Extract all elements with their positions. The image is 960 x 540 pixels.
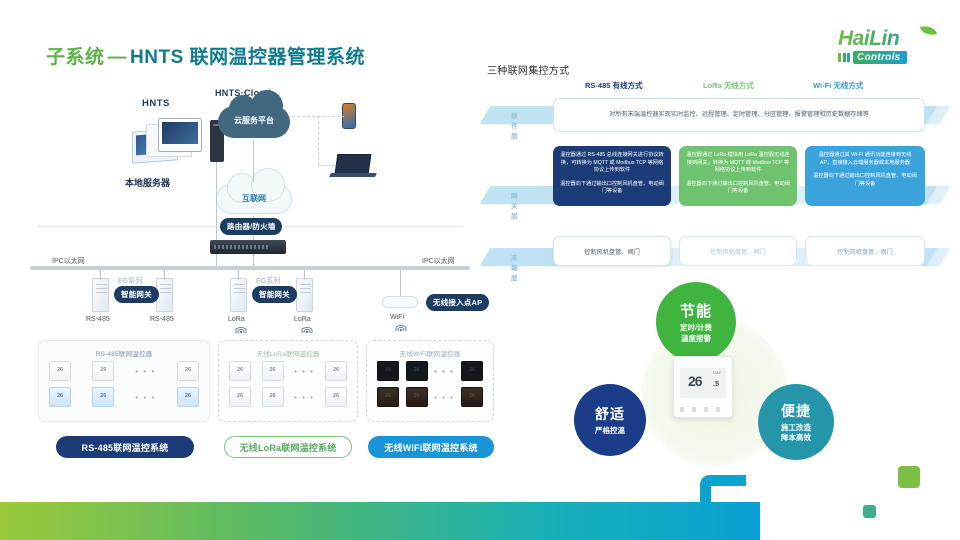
benefit-convenience-title: 便捷 bbox=[781, 401, 811, 421]
thermostat-icon bbox=[262, 361, 284, 381]
thermostat-device: DAY 26 .5 bbox=[673, 356, 733, 418]
gateway-series-label-2: EG系列 bbox=[256, 276, 280, 286]
gateway-card-rs485: 温控器通过 RS-485 总线连接网关进行协议转换，可转换为 MQTT 或 Mo… bbox=[553, 146, 671, 206]
lora-signal-icon-2 bbox=[301, 324, 313, 333]
ellipsis-2b: • • • bbox=[434, 393, 454, 402]
wireless-ap-icon bbox=[382, 296, 418, 308]
benefit-circle-convenience: 便捷 施工改造 降本高效 bbox=[758, 384, 834, 460]
internet-label: 互联网 bbox=[217, 193, 291, 204]
wireless-ap-label: 无线接入点AP bbox=[426, 294, 489, 311]
thermostat-icon bbox=[325, 387, 347, 407]
drop-2 bbox=[164, 270, 165, 280]
thermostat-screen: DAY 26 .5 bbox=[680, 368, 726, 398]
benefit-circle-energy: 节能 定时/计费 温度报警 bbox=[656, 282, 736, 362]
page-title-dash: — bbox=[108, 47, 128, 68]
lan-right-label: IPC以太网 bbox=[422, 256, 455, 266]
connector-cloud-phone bbox=[318, 116, 344, 117]
connector-cloud-laptop bbox=[318, 165, 334, 166]
thermostat-icon bbox=[92, 387, 114, 407]
terminal-card-rs485-text: 控制风机盘管、阀门 bbox=[584, 247, 640, 256]
lora-group-header: 无线LoRa联网温控器 bbox=[219, 348, 357, 358]
thermostat-icon bbox=[49, 387, 71, 407]
mobile-phone-icon bbox=[342, 103, 356, 129]
footer-square-small bbox=[863, 505, 876, 518]
gateway-icon-4 bbox=[296, 278, 313, 312]
drop-4 bbox=[304, 270, 305, 280]
thermostat-icon bbox=[406, 387, 428, 407]
router-firewall-icon bbox=[210, 240, 286, 254]
layer-label-gateway: 网关层 bbox=[511, 190, 519, 220]
terminal-card-wifi: 控制风机盘管、阀门 bbox=[805, 236, 925, 266]
benefit-energy-line1: 定时/计费 bbox=[680, 323, 712, 333]
thermostat-temperature-decimal: .5 bbox=[713, 381, 719, 388]
cloud-platform-label: 云服务平台 bbox=[218, 115, 290, 126]
terminal-card-rs485: 控制风机盘管、阀门 bbox=[553, 236, 671, 266]
lora-device-group: 无线LoRa联网温控器 • • • • • • bbox=[218, 340, 358, 422]
page-title-main: HNTS 联网温控器管理系统 bbox=[130, 47, 365, 68]
connector-cloud-out bbox=[292, 116, 320, 117]
footer-hook-decoration bbox=[700, 475, 746, 515]
drop-5 bbox=[400, 270, 401, 296]
thermostat-icon bbox=[49, 361, 71, 381]
footer-gradient-bar bbox=[0, 502, 760, 540]
gateway-label-2: 智能网关 bbox=[252, 286, 297, 303]
thermostat-icon bbox=[177, 387, 199, 407]
column-header-lora: LoRa 无线方式 bbox=[703, 80, 754, 91]
network-topology-diagram: HNTS HNTS·Cloud 本地服务器 云服务平台 互联网 路由器/防火墙 … bbox=[30, 88, 480, 458]
ellipsis-2: • • • bbox=[434, 367, 454, 376]
bus-label-3: LoRa bbox=[294, 316, 311, 323]
benefit-comfort-title: 舒适 bbox=[595, 404, 625, 424]
thermostat-icon bbox=[262, 387, 284, 407]
gateway-label-1: 智能网关 bbox=[114, 286, 159, 303]
lan-left-label: IPC以太网 bbox=[52, 256, 85, 266]
ellipsis-1: • • • bbox=[294, 367, 314, 376]
page-title-prefix: 子系统 bbox=[46, 47, 105, 68]
wifi-group-header: 无线WiFi联网温控器 bbox=[367, 348, 493, 358]
wifi-signal-icon bbox=[395, 322, 407, 331]
page-title: 子系统—HNTS 联网温控器管理系统 bbox=[46, 42, 365, 69]
bus-label-0: RS-485 bbox=[86, 316, 110, 323]
connector-vertical-1 bbox=[318, 116, 319, 166]
terminal-card-lora: 控制风机盘管、阀门 bbox=[679, 236, 797, 266]
benefit-convenience-line1: 施工改造 bbox=[781, 423, 811, 433]
benefit-comfort-line1: 严格控温 bbox=[595, 426, 625, 436]
gateway-card-lora-line1: 温控器通过 LoRa 模块用 LoRa 温控器无线连接到网关，转换为 MQTT … bbox=[686, 152, 790, 175]
rs485-device-group: RS-485联网温控器 • • • • • • bbox=[38, 340, 210, 422]
column-header-rs485: RS-485 有线方式 bbox=[585, 80, 643, 91]
gateway-card-lora-line2: 温控器向下通过输出口控制风机盘管、电动阀门等设备 bbox=[686, 181, 790, 196]
benefit-convenience-line2: 降本高效 bbox=[781, 433, 811, 443]
badge-lora-system: 无线LoRa联网温控系统 bbox=[224, 436, 352, 458]
gateway-icon-3 bbox=[230, 278, 247, 312]
benefit-energy-line2: 温度报警 bbox=[680, 334, 712, 344]
column-header-wifi: Wi-Fi 无线方式 bbox=[813, 80, 863, 91]
rs485-group-header: RS-485联网温控器 bbox=[39, 348, 209, 358]
thermostat-icon bbox=[229, 361, 251, 381]
benefit-circle-comfort: 舒适 严格控温 bbox=[574, 384, 646, 456]
ellipsis-0: • • • bbox=[135, 367, 155, 376]
router-firewall-label: 路由器/防火墙 bbox=[220, 218, 282, 235]
bus-label-2: LoRa bbox=[228, 316, 245, 323]
panel-title: 三种联网集控方式 bbox=[487, 62, 569, 77]
drop-1 bbox=[100, 270, 101, 280]
lora-signal-icon bbox=[235, 324, 247, 333]
gateway-card-wifi: 温控器通过其 Wi-Fi 通讯功能连接到无线 AP，直接接入云端服务器或本地服务… bbox=[805, 146, 925, 206]
hnts-label: HNTS bbox=[142, 98, 170, 109]
thermostat-icon bbox=[229, 387, 251, 407]
control-methods-panel: 三种联网集控方式 RS-485 有线方式 LoRa 无线方式 Wi-Fi 无线方… bbox=[485, 58, 935, 278]
terminal-card-wifi-text: 控制风机盘管、阀门 bbox=[837, 247, 893, 256]
gateway-icon-1 bbox=[92, 278, 109, 312]
thermostat-icon bbox=[461, 387, 483, 407]
badge-rs485-system: RS-485联网温控系统 bbox=[56, 436, 194, 458]
laptop-icon bbox=[330, 154, 374, 178]
monitor-icon-3 bbox=[158, 118, 202, 152]
thermostat-temperature: 26 bbox=[688, 373, 702, 389]
internet-cloud-icon: 互联网 bbox=[216, 184, 292, 214]
ellipsis-1b: • • • bbox=[294, 393, 314, 402]
benefits-group: 节能 定时/计费 温度报警 舒适 严格控温 便捷 施工改造 降本高效 DAY 2… bbox=[560, 282, 850, 472]
gateway-card-wifi-line1: 温控器通过其 Wi-Fi 通讯功能连接到无线 AP，直接接入云端服务器或本地服务… bbox=[812, 152, 918, 167]
wifi-device-group: 无线WiFi联网温控器 • • • • • • bbox=[366, 340, 494, 422]
thermostat-icon bbox=[377, 361, 399, 381]
gateway-card-wifi-line2: 温控器向下通过输出口控制风机盘管、电动阀门等设备 bbox=[812, 173, 918, 188]
thermostat-icon bbox=[325, 361, 347, 381]
software-layer-card: 对所有末端温控器实现实时监控、远程管理、定时管理、分区管理、报警管理和历史数据存… bbox=[553, 98, 925, 132]
local-server-label: 本地服务器 bbox=[125, 176, 170, 189]
gateway-series-label-1: EG系列 bbox=[118, 276, 142, 286]
bus-label-1: RS-485 bbox=[150, 316, 174, 323]
footer-square-large bbox=[898, 466, 920, 488]
badge-wifi-system: 无线WiFi联网温控系统 bbox=[368, 436, 494, 458]
layer-label-terminal: 末端层 bbox=[511, 252, 519, 282]
benefit-energy-title: 节能 bbox=[680, 300, 712, 321]
terminal-card-lora-text: 控制风机盘管、阀门 bbox=[710, 247, 766, 256]
drop-3 bbox=[238, 270, 239, 280]
gateway-card-rs485-line2: 温控器向下通过输出口控制风机盘管、电动阀门等设备 bbox=[560, 181, 664, 196]
thermostat-buttons[interactable] bbox=[680, 407, 726, 412]
cloud-platform-icon: 云服务平台 bbox=[218, 106, 290, 138]
software-layer-text: 对所有末端温控器实现实时监控、远程管理、定时管理、分区管理、报警管理和历史数据存… bbox=[609, 110, 869, 119]
thermostat-mode: DAY bbox=[713, 370, 721, 375]
ellipsis-0b: • • • bbox=[135, 393, 155, 402]
ethernet-bus bbox=[30, 266, 470, 270]
thermostat-icon bbox=[406, 361, 428, 381]
layer-label-software: 软件层 bbox=[511, 110, 519, 140]
gateway-card-rs485-line1: 温控器通过 RS-485 总线连接网关进行协议转换，可转换为 MQTT 或 Mo… bbox=[560, 152, 664, 175]
thermostat-icon bbox=[92, 361, 114, 381]
thermostat-icon bbox=[377, 387, 399, 407]
connector-cloud-internet bbox=[253, 140, 254, 182]
gateway-card-lora: 温控器通过 LoRa 模块用 LoRa 温控器无线连接到网关，转换为 MQTT … bbox=[679, 146, 797, 206]
bus-label-4: WiFi bbox=[390, 314, 404, 321]
thermostat-icon bbox=[461, 361, 483, 381]
thermostat-icon bbox=[177, 361, 199, 381]
